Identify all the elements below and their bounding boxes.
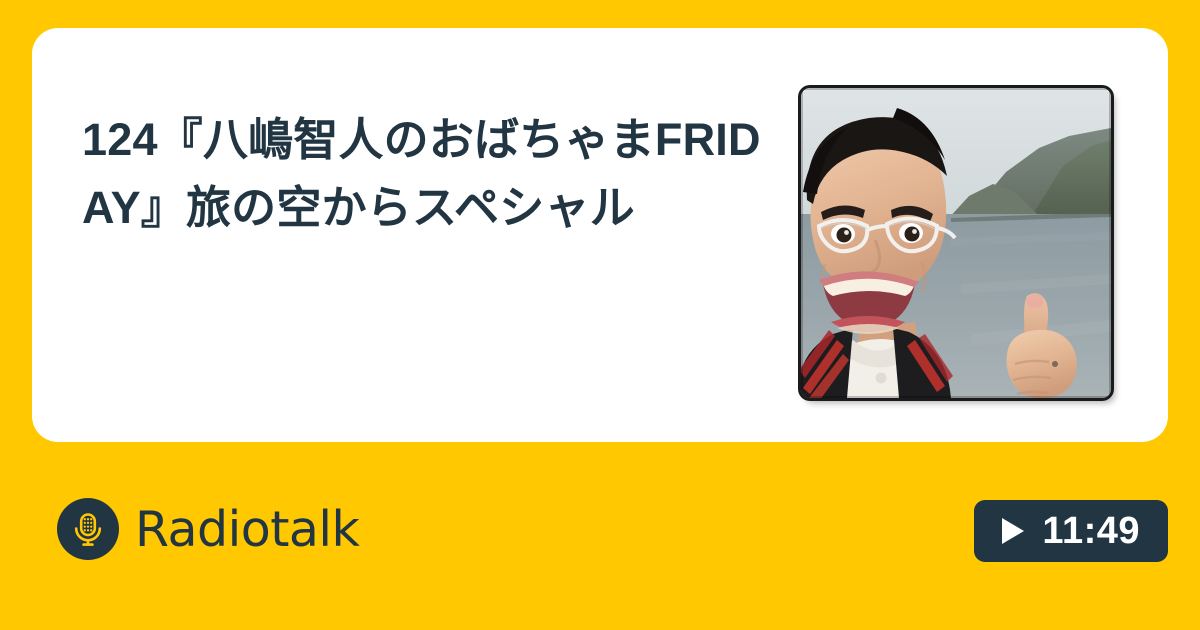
episode-card[interactable]: 124『八嶋智人のおばちゃまFRIDAY』旅の空からスペシャル: [32, 28, 1168, 442]
thumbnail-frame: [796, 83, 1116, 403]
play-icon[interactable]: [1002, 518, 1024, 544]
brand-logo[interactable]: Radiotalk: [57, 498, 359, 560]
episode-photo: [801, 88, 1111, 398]
duration-label: 11:49: [1042, 512, 1140, 550]
play-duration-badge[interactable]: 11:49: [974, 500, 1168, 562]
brand-name: Radiotalk: [135, 505, 359, 554]
microphone-icon: [57, 498, 119, 560]
footer-bar: Radiotalk 11:49: [0, 442, 1200, 630]
page-title: 124『八嶋智人のおばちゃまFRIDAY』旅の空からスペシャル: [82, 106, 772, 243]
